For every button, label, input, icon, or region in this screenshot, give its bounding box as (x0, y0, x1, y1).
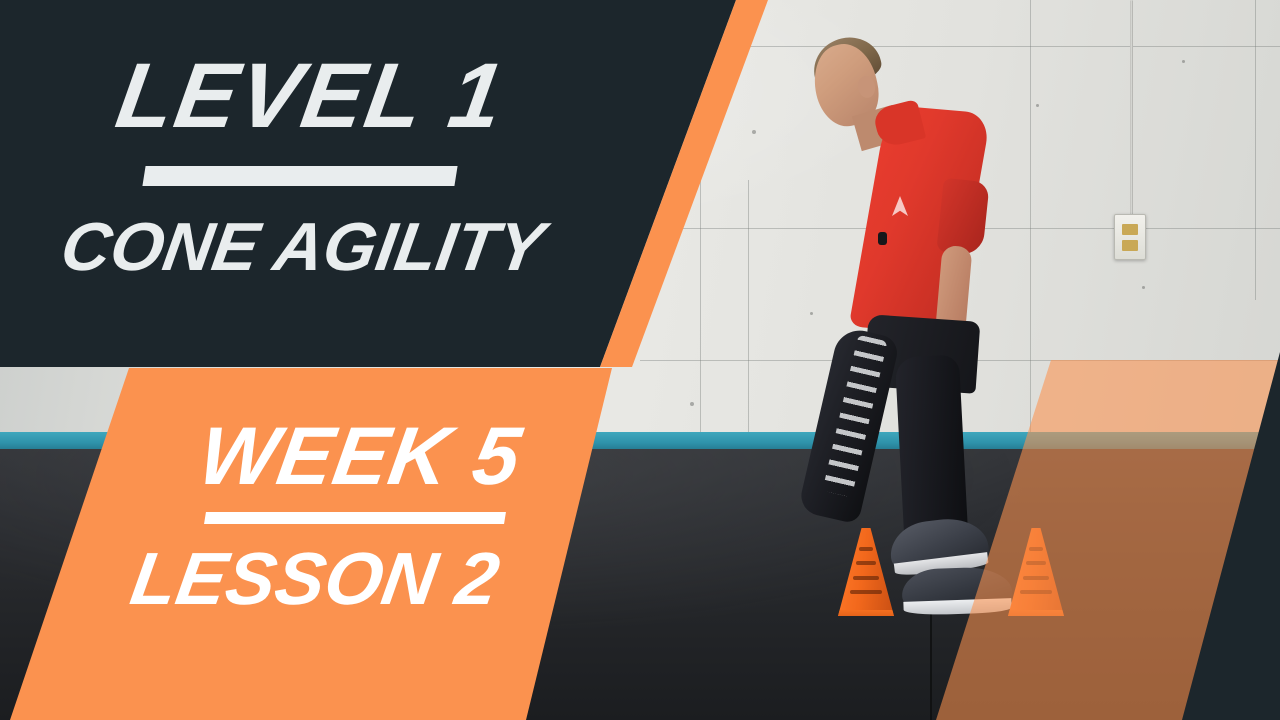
level-heading: LEVEL 1 (111, 50, 511, 142)
program-heading: CONE AGILITY (57, 213, 549, 281)
wall-seam (1030, 0, 1031, 450)
title-card: LEVEL 1 CONE AGILITY WEEK 5 LESSON 2 (0, 0, 1280, 720)
wall-conduit (1130, 0, 1133, 218)
divider-rule-top (142, 166, 457, 186)
divider-rule-bottom (204, 512, 506, 524)
wall-speck (810, 312, 813, 315)
wall-speck (1142, 286, 1145, 289)
lapel-mic-icon (878, 232, 887, 245)
wall-outlet (1114, 214, 1146, 260)
wall-seam (748, 180, 749, 460)
week-heading: WEEK 5 (194, 416, 527, 498)
person-shoe-front (901, 566, 1013, 616)
wall-speck (1182, 60, 1185, 63)
wall-speck (690, 402, 694, 406)
wall-seam (1255, 0, 1256, 300)
wall-speck (752, 130, 756, 134)
lesson-heading: LESSON 2 (126, 542, 504, 616)
wall-speck (1036, 104, 1039, 107)
